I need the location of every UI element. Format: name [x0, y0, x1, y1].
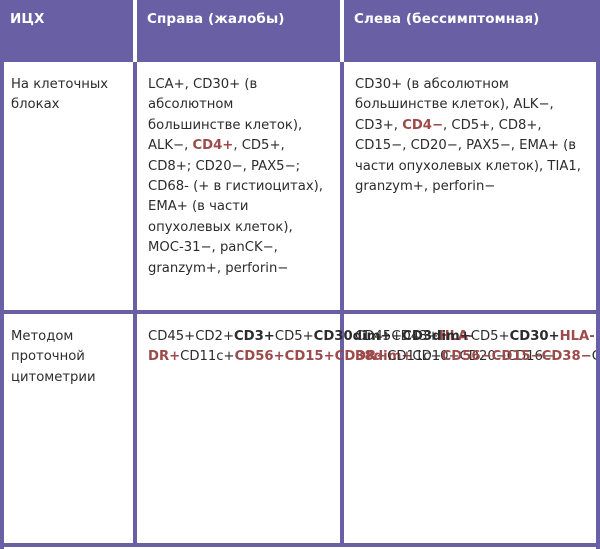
table-row: На клеточных блоках LCA+, CD30+ (в абсол…	[0, 62, 600, 312]
text-run-1: CD45+CD2+	[148, 329, 234, 344]
text-run-2: CD3+	[234, 329, 275, 344]
text-run-7: CD11c+	[180, 349, 234, 364]
table-right-border	[596, 62, 600, 549]
text-run-2: CD4+	[192, 138, 233, 153]
cell-right-cell-blocks: LCA+, CD30+ (в абсолютном большинстве кл…	[135, 62, 342, 312]
text-run-4: CD30+	[510, 329, 560, 344]
cell-right-flow-cytometry: CD45+CD2+CD3+CD5+CD30dim+CD43+HLA-DR+CD1…	[135, 312, 342, 545]
header-cell-method: ИЦХ	[0, 0, 135, 62]
row-label-cell-cell-blocks: На клеточных блоках	[0, 62, 135, 312]
text-run-2: CD4−	[402, 118, 443, 133]
text-run-6: CD11c+	[387, 349, 441, 364]
text-run-3: CD5+	[275, 329, 314, 344]
text-run-1: CD45+	[355, 329, 402, 344]
text-run-3: CD5+	[471, 329, 510, 344]
header-cell-left-side: Слева (бессимптомная)	[342, 0, 600, 62]
cell-left-cell-blocks: CD30+ (в абсолютном большинстве клеток),…	[342, 62, 600, 312]
header-cell-right-side: Справа (жалобы)	[135, 0, 342, 62]
row-label-cell-flow-cytometry: Методом проточной цитометрии	[0, 312, 135, 545]
text-run-3: , CD5+, CD8+; CD20−, PAX5−; CD68- (+ в г…	[148, 138, 323, 275]
ihc-comparison-table: ИЦХ Справа (жалобы) Слева (бессимптомная…	[0, 0, 600, 547]
cell-left-flow-cytometry: CD45+CD3dim+CD5+CD30+HLA-DR−CD11c+CD56−C…	[342, 312, 600, 545]
table-left-border	[0, 62, 4, 549]
ihc-comparison-table-container: ИЦХ Справа (жалобы) Слева (бессимптомная…	[0, 0, 600, 549]
text-run-2: CD3dim+	[402, 329, 471, 344]
table-row: Методом проточной цитометрии CD45+CD2+CD…	[0, 312, 600, 545]
table-header-row: ИЦХ Справа (жалобы) Слева (бессимптомная…	[0, 0, 600, 62]
text-run-7: CD56−CD15−CD38−	[442, 349, 592, 364]
